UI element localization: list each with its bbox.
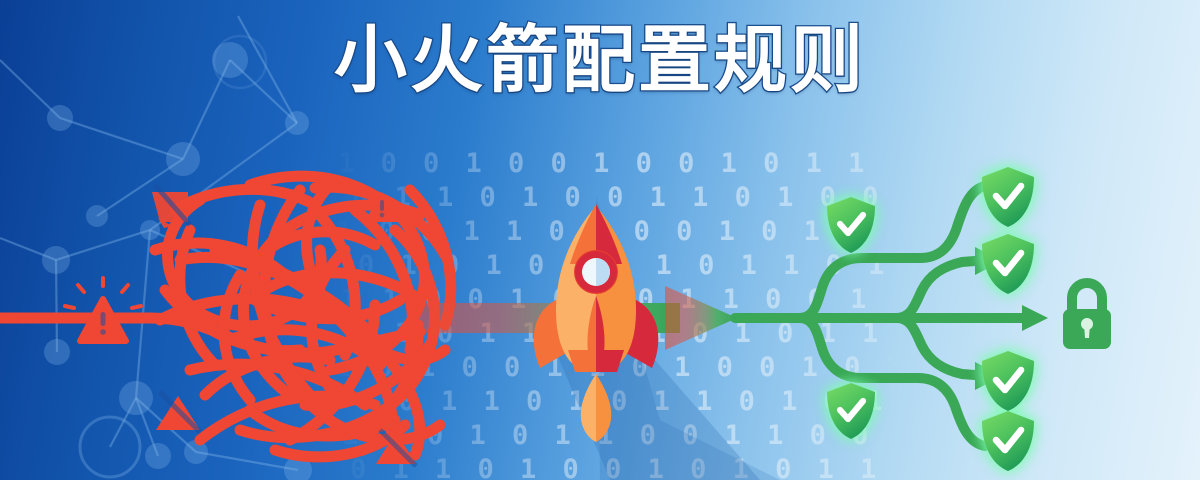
rocket-illustration [0,0,1200,480]
banner-image: 1 0 0 1 0 0 1 0 0 1 0 1 1 0 1 0 0 1 0 1 … [0,0,1200,480]
